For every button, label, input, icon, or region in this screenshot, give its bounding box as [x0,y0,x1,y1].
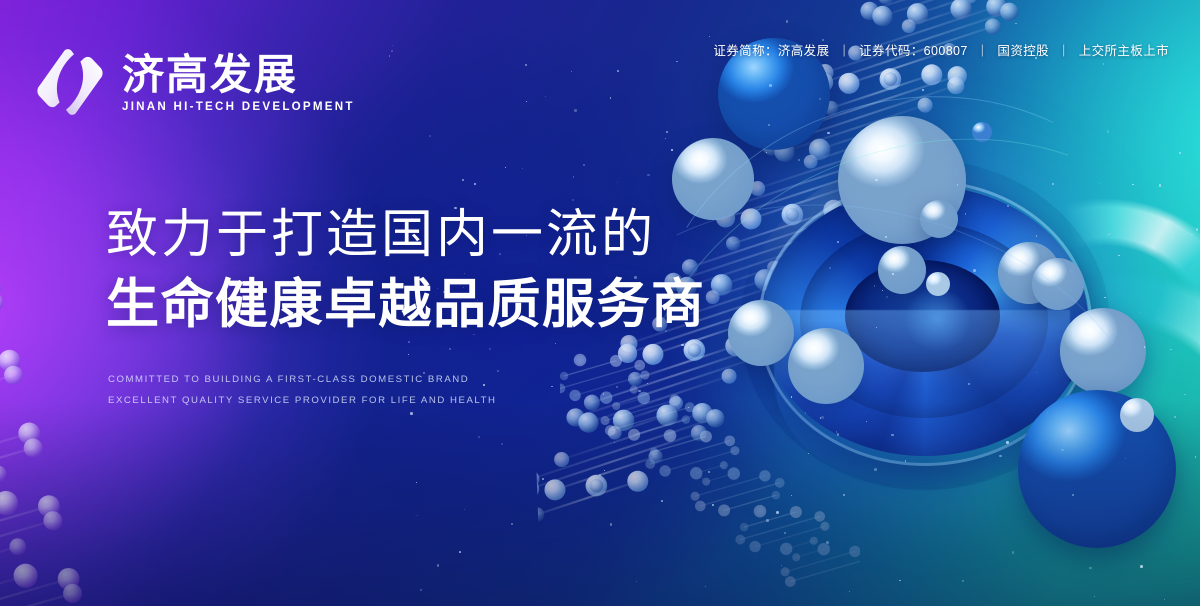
star-dust [610,523,612,525]
star-dust [1015,23,1016,24]
star-dust [417,515,418,516]
star-dust [526,101,527,102]
star-dust [505,167,506,168]
headline-line-1: 致力于打造国内一流的 [106,206,706,266]
star-dust [599,474,601,476]
star-dust [827,132,830,135]
star-dust [572,199,574,201]
star-dust [1170,349,1171,350]
star-dust [786,20,789,23]
star-dust [1089,567,1091,569]
star-dust [462,179,464,181]
star-dust [705,586,706,587]
star-dust [420,589,422,591]
star-dust [1061,449,1063,451]
star-dust [474,183,476,185]
star-dust [702,478,703,479]
star-dust [1118,255,1119,256]
star-dust [666,131,668,133]
star-dust [885,236,886,237]
stock-info-bar: 证券简称：济高发展 | 证券代码：600807 | 国资控股 | 上交所主板上市 [700,40,1182,59]
star-dust [837,433,840,436]
stock-item-holding: 国资控股 [984,40,1062,59]
star-dust [616,386,619,389]
star-dust [604,470,605,471]
star-dust [1172,236,1174,238]
star-dust [891,434,893,436]
star-dust [511,523,513,525]
star-dust [1110,233,1111,234]
star-dust [610,97,612,99]
star-dust [1006,441,1009,444]
star-dust [416,482,417,483]
star-dust [410,412,413,415]
star-dust [905,460,906,461]
star-dust [1036,235,1037,236]
star-dust [551,386,552,387]
subtitle-line-1: COMMITTED TO BUILDING A FIRST-CLASS DOME… [108,370,496,391]
star-dust [1104,297,1106,299]
star-dust [437,564,439,566]
star-dust [776,511,779,514]
star-dust [709,36,710,37]
star-dust [899,580,900,581]
star-dust [573,176,574,177]
star-dust [1103,63,1104,64]
star-dust [922,89,924,91]
star-dust [866,421,868,423]
star-dust [791,495,792,496]
star-dust [638,390,640,392]
star-dust [781,565,782,566]
star-dust [688,407,689,408]
star-dust [1094,596,1095,597]
logo-english-name: JINAN HI-TECH DEVELOPMENT [122,100,355,113]
star-dust [861,149,862,150]
star-dust [647,383,648,384]
star-dust [1140,312,1141,313]
star-dust [784,532,786,534]
star-dust [843,494,845,496]
star-dust [1036,372,1037,373]
star-dust [791,396,793,398]
star-dust [1070,270,1071,271]
star-dust [766,152,767,153]
star-dust [1108,234,1109,235]
star-dust [769,84,772,87]
star-dust [1196,228,1198,230]
headline-line-2: 生命健康卓越品质服务商 [106,275,706,336]
star-dust [389,55,390,56]
star-dust [1072,494,1074,496]
star-dust [583,164,586,167]
star-dust [1012,551,1014,553]
star-dust [1174,416,1176,418]
star-dust [875,179,878,182]
star-dust [542,478,544,480]
star-dust [408,341,409,342]
star-dust [708,160,710,162]
star-dust [661,500,663,502]
star-dust [1132,184,1134,186]
logo-chinese-name: 济高发展 [122,53,355,97]
star-dust [1052,183,1054,185]
star-dust [712,504,714,506]
star-dust [614,442,615,443]
star-dust [489,348,491,350]
star-dust [1195,456,1196,457]
star-dust [1007,205,1008,206]
star-dust [545,96,546,97]
star-dust [647,174,649,176]
star-dust [886,296,888,298]
star-dust [882,290,883,291]
star-dust [617,182,618,183]
star-dust [821,416,823,418]
star-dust [1144,346,1146,348]
star-dust [1184,394,1186,396]
subtitle-line-2: EXCELLENT QUALITY SERVICE PROVIDER FOR L… [108,391,496,412]
star-dust [408,354,409,355]
star-dust [459,551,461,553]
hero-banner: 证券简称：济高发展 | 证券代码：600807 | 国资控股 | 上交所主板上市 [0,0,1200,606]
star-dust [999,455,1002,458]
star-dust [962,580,964,582]
star-dust [603,393,604,394]
star-dust [805,412,806,413]
star-dust [892,273,894,275]
star-dust [522,168,523,169]
star-dust [798,159,800,161]
star-dust [1164,599,1165,600]
star-dust [1125,458,1126,459]
star-dust [671,149,672,150]
star-dust [957,184,959,186]
company-logo[interactable]: 济高发展 JINAN HI-TECH DEVELOPMENT [34,46,355,118]
star-dust [681,344,683,346]
star-dust [1159,184,1161,186]
star-dust [501,443,502,444]
stock-item-name: 证券简称：济高发展 [700,40,842,59]
star-dust [464,509,465,510]
star-dust [808,453,809,454]
star-dust [849,591,850,592]
star-dust [1179,152,1181,154]
star-dust [708,149,710,151]
star-dust [965,213,966,214]
star-dust [973,269,976,272]
star-dust [676,61,678,63]
stock-item-code: 证券代码：600807 [846,40,981,59]
star-dust [555,343,556,344]
headline-block: 致力于打造国内一流的 生命健康卓越品质服务商 [106,206,706,336]
star-dust [525,64,527,66]
star-dust [768,124,770,126]
star-dust [571,71,572,72]
star-dust [665,138,666,139]
star-dust [497,370,499,372]
star-dust [826,541,828,543]
star-dust [1099,183,1100,184]
star-dust [968,383,970,385]
star-dust [636,581,637,582]
star-dust [827,339,828,340]
star-dust [1047,412,1048,413]
star-dust [478,436,480,438]
star-dust [829,267,831,269]
logo-text: 济高发展 JINAN HI-TECH DEVELOPMENT [122,51,355,113]
star-dust [1140,565,1143,568]
logo-diamond-leaf-icon [34,46,106,118]
star-dust [429,135,431,137]
star-dust [874,468,877,471]
star-dust [1191,234,1192,235]
star-dust [392,45,393,46]
star-dust [874,285,876,287]
star-dust [617,70,619,72]
star-dust [449,348,451,350]
stock-item-listing: 上交所主板上市 [1066,40,1182,59]
star-dust [1107,130,1109,132]
star-dust [574,109,576,111]
star-dust [876,327,877,328]
star-dust [708,471,710,473]
star-dust [819,98,821,100]
subtitle-block: COMMITTED TO BUILDING A FIRST-CLASS DOME… [108,370,496,412]
star-dust [837,241,839,243]
star-dust [391,50,393,52]
star-dust [766,519,769,522]
